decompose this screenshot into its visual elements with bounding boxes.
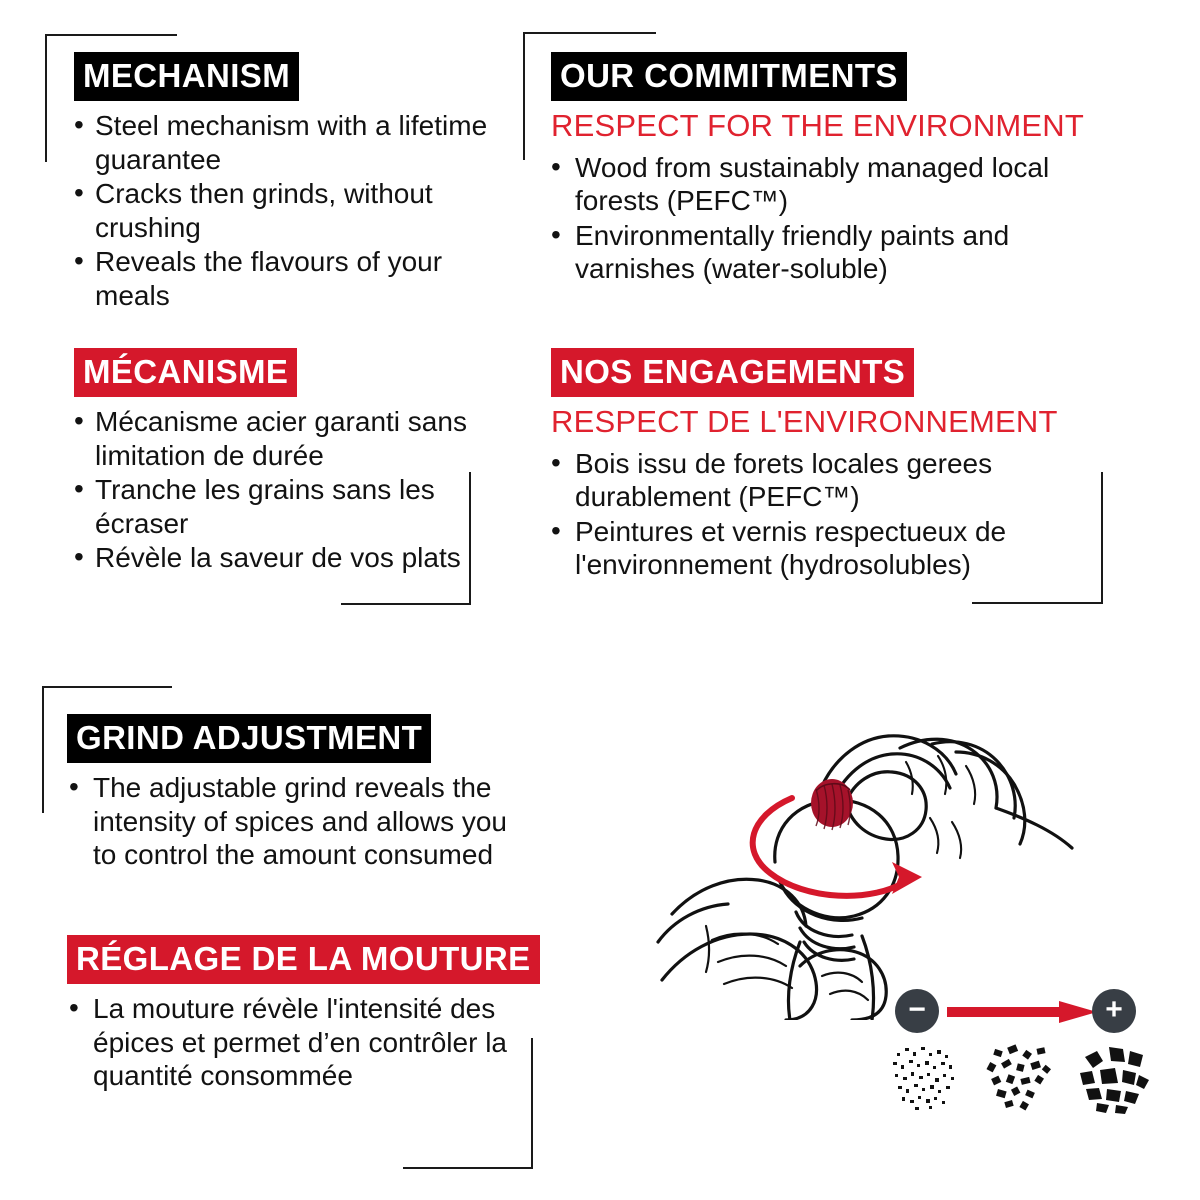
list-item: La mouture révèle l'intensité des épices…	[67, 992, 547, 1093]
bracket-mechanism-bottom	[341, 603, 471, 605]
fine-grind-sample-icon	[885, 1037, 963, 1115]
bracket-mechanism-left	[45, 34, 47, 162]
subheading-commitments-french: RESPECT DE L'ENVIRONNEMENT	[551, 406, 1131, 439]
list-item: Mécanisme acier garanti sans limitation …	[74, 405, 504, 472]
section-commitments-english: OUR COMMITMENTS RESPECT FOR THE ENVIRONM…	[551, 52, 1131, 287]
grind-coarseness-scale: − +	[885, 975, 1150, 1115]
heading-commitments-english: OUR COMMITMENTS	[551, 52, 907, 101]
list-mechanism-english: Steel mechanism with a lifetime guarante…	[74, 109, 494, 313]
list-commitments-english: Wood from sustainably managed local fore…	[551, 151, 1131, 286]
section-mechanism-french: MÉCANISME Mécanisme acier garanti sans l…	[74, 348, 504, 576]
bracket-commitments-bottom	[972, 602, 1103, 604]
scale-arrow-icon	[947, 1001, 1097, 1023]
bracket-grind-bottom	[403, 1167, 533, 1169]
list-item: Bois issu de forets locales gerees durab…	[551, 447, 1131, 514]
heading-commitments-french: NOS ENGAGEMENTS	[551, 348, 914, 397]
list-commitments-french: Bois issu de forets locales gerees durab…	[551, 447, 1131, 582]
heading-mechanism-english: MECHANISM	[74, 52, 299, 101]
bracket-commitments-top	[523, 32, 656, 34]
list-item: Révèle la saveur de vos plats	[74, 541, 504, 575]
list-grind-english: The adjustable grind reveals the intensi…	[67, 771, 537, 872]
list-item: Reveals the flavours of your meals	[74, 245, 494, 312]
list-item: Environmentally friendly paints and varn…	[551, 219, 1131, 286]
hand-turning-grinder-knob-illustration	[600, 690, 1080, 1020]
list-item: Peintures et vernis respectueux de l'env…	[551, 515, 1131, 582]
bracket-mechanism-top	[45, 34, 177, 36]
heading-mechanism-french: MÉCANISME	[74, 348, 297, 397]
bracket-grind-top	[42, 686, 172, 688]
list-item: The adjustable grind reveals the intensi…	[67, 771, 537, 872]
minus-glyph: −	[895, 989, 939, 1033]
plus-glyph: +	[1092, 989, 1136, 1033]
section-grind-french: RÉGLAGE DE LA MOUTURE La mouture révèle …	[67, 935, 547, 1094]
list-item: Steel mechanism with a lifetime guarante…	[74, 109, 494, 176]
infographic-page: MECHANISM Steel mechanism with a lifetim…	[0, 0, 1200, 1200]
list-item: Wood from sustainably managed local fore…	[551, 151, 1131, 218]
subheading-commitments-english: RESPECT FOR THE ENVIRONMENT	[551, 110, 1131, 143]
minus-icon: −	[895, 989, 939, 1033]
plus-icon: +	[1092, 989, 1136, 1033]
adjustment-knob	[811, 779, 853, 830]
bracket-commitments-left	[523, 32, 525, 160]
list-mechanism-french: Mécanisme acier garanti sans limitation …	[74, 405, 504, 575]
list-item: Tranche les grains sans les écraser	[74, 473, 504, 540]
section-grind-english: GRIND ADJUSTMENT The adjustable grind re…	[67, 714, 537, 873]
section-mechanism-english: MECHANISM Steel mechanism with a lifetim…	[74, 52, 494, 314]
list-item: Cracks then grinds, without crushing	[74, 177, 494, 244]
section-commitments-french: NOS ENGAGEMENTS RESPECT DE L'ENVIRONNEME…	[551, 348, 1131, 583]
heading-grind-french: RÉGLAGE DE LA MOUTURE	[67, 935, 540, 984]
list-grind-french: La mouture révèle l'intensité des épices…	[67, 992, 547, 1093]
medium-grind-sample-icon	[980, 1037, 1058, 1115]
coarse-grind-sample-icon	[1073, 1037, 1151, 1115]
bracket-grind-left	[42, 686, 44, 813]
heading-grind-english: GRIND ADJUSTMENT	[67, 714, 431, 763]
